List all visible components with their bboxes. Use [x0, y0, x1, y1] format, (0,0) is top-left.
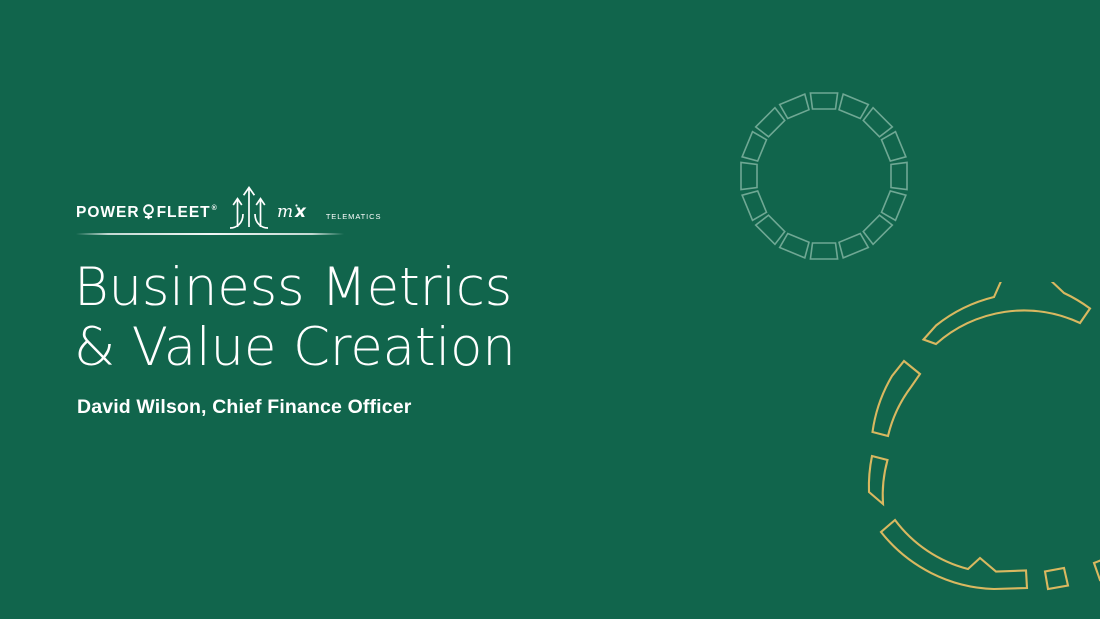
brand-logo-lockup: POWER FLEET ®	[76, 186, 348, 240]
mix-arrows-icon	[228, 183, 270, 234]
logo-row: POWER FLEET ®	[76, 186, 381, 230]
page-title: Business Metrics & Value Creation	[74, 258, 694, 378]
logo-divider-rule	[76, 233, 344, 235]
registered-trademark-symbol: ®	[212, 205, 218, 212]
title-block: Business Metrics & Value Creation	[74, 258, 694, 378]
segmented-ring-sage-icon	[738, 90, 910, 262]
presenter-subtitle: David Wilson, Chief Finance Officer	[77, 396, 411, 419]
powerfleet-globe-mark-icon	[141, 204, 156, 224]
powerfleet-word-power: POWER	[76, 205, 140, 221]
segmented-ring-gold-icon	[864, 282, 1100, 602]
powerfleet-word-fleet: FLEET	[157, 205, 211, 221]
svg-text:m: m	[277, 202, 293, 222]
mix-wordmark: m x	[277, 199, 317, 228]
title-slide: POWER FLEET ®	[0, 0, 1100, 619]
mix-telematics-label: TELEMATICS	[326, 212, 382, 221]
powerfleet-wordmark: POWER FLEET ®	[76, 203, 217, 223]
